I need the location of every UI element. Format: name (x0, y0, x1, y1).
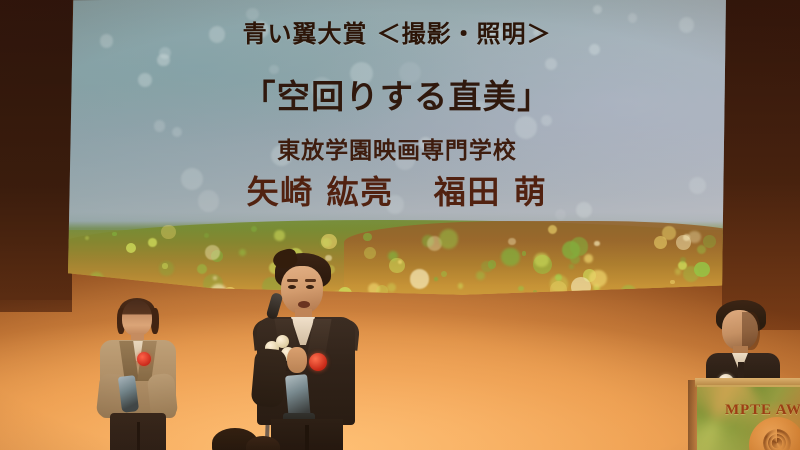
microphone-icon (266, 292, 284, 320)
award-recipient-left (92, 300, 184, 450)
stage-wall-left (0, 0, 72, 312)
eyebrow-right (305, 279, 316, 282)
hand (287, 347, 307, 373)
eye-left (288, 285, 296, 289)
arm-left (251, 348, 288, 409)
ceremony-photo: 青い翼大賞 ＜撮影・照明＞ 「空回りする直美」 東放学園映画専門学校 矢崎 紘亮… (0, 0, 800, 450)
slide-recipient-2: 福田 萌 (434, 173, 548, 211)
slide-award-header: 青い翼大賞 ＜撮影・照明＞ (68, 14, 726, 49)
award-recipient-speaking (243, 253, 373, 450)
eye-right (306, 285, 314, 289)
slide-text-block: 青い翼大賞 ＜撮影・照明＞ 「空回りする直美」 東放学園映画専門学校 矢崎 紘亮… (68, 0, 726, 300)
slide-recipient-1: 矢崎 紘亮 (247, 173, 394, 211)
podium-sign-text: MPTE AWA (725, 402, 800, 419)
hair-right (151, 308, 159, 334)
podium-panel: MPTE AWA (697, 385, 800, 450)
face-shadow (742, 312, 760, 350)
slide-work-title: 「空回りする直美」 (68, 70, 726, 118)
spiral-icon (763, 429, 791, 450)
leg-separation (305, 425, 309, 450)
face (122, 300, 152, 336)
rosette-icon (137, 352, 151, 366)
stage-wall-right (722, 0, 800, 330)
slide-school-name: 東放学園映画専門学校 (68, 131, 726, 165)
slide-recipient-names: 矢崎 紘亮福田 萌 (68, 167, 726, 213)
eyebrow-left (287, 279, 298, 282)
leg-separation (137, 422, 140, 450)
mouth (298, 301, 310, 308)
rosette-icon (309, 353, 327, 371)
